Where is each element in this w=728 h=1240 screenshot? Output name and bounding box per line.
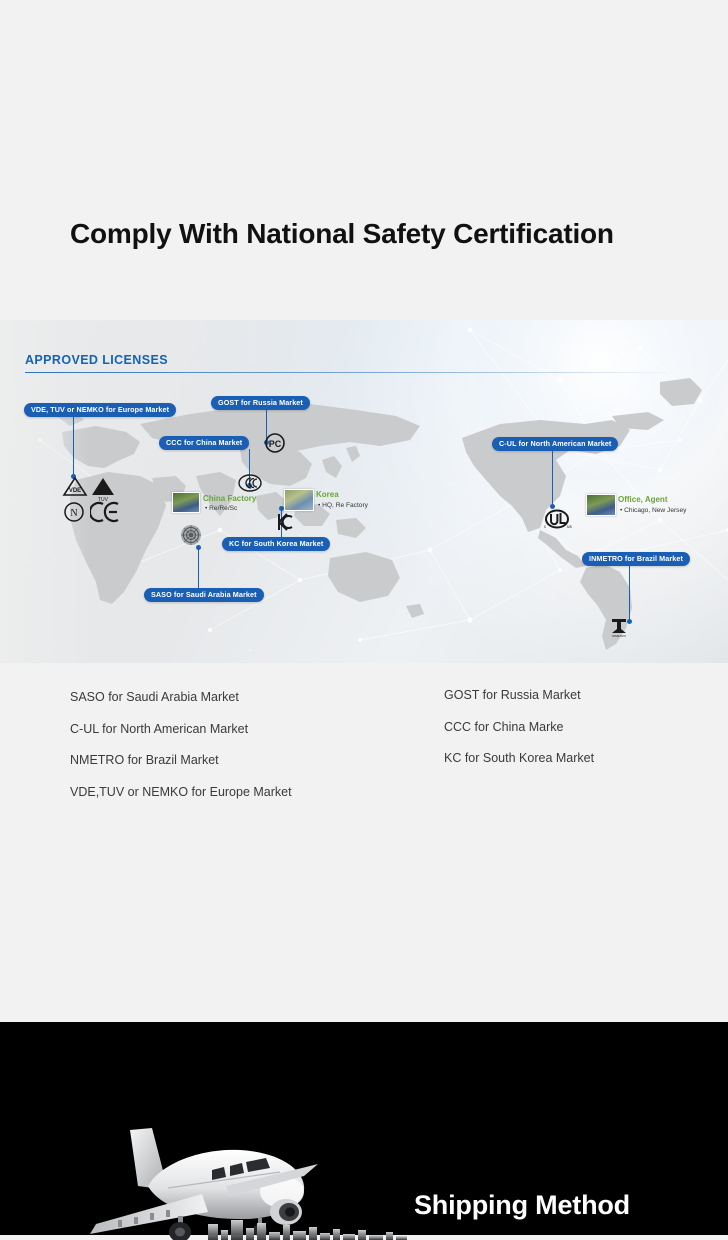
svg-text:us: us (567, 524, 572, 529)
leader-brazil (629, 565, 630, 621)
callout-north-america[interactable]: C-UL for North American Market (492, 437, 618, 451)
heading-section: Comply With National Safety Certificatio… (0, 0, 728, 320)
nemko-logo: N (63, 501, 85, 523)
svg-text:VDE: VDE (69, 488, 81, 494)
ccc-logo (238, 474, 262, 492)
ul-logo: c us (542, 508, 572, 530)
leader-north-america (552, 450, 553, 506)
svg-text:N: N (70, 508, 77, 519)
china-factory-detail: • Re/Re/Sc (205, 506, 237, 513)
gost-pct-logo: PC (264, 432, 286, 454)
korea-site-name: Korea (316, 491, 339, 499)
callout-europe[interactable]: VDE, TUV or NEMKO for Europe Market (24, 403, 176, 417)
list-item: CCC for China Marke (444, 721, 594, 734)
page-title: Comply With National Safety Certificatio… (70, 218, 614, 250)
china-factory-name: China Factory (203, 495, 256, 503)
svg-text:c: c (544, 524, 547, 529)
approved-licenses-divider (25, 372, 680, 373)
callout-brazil[interactable]: INMETRO for Brazil Market (582, 552, 690, 566)
callout-saudi[interactable]: SASO for Saudi Arabia Market (144, 588, 264, 602)
tuv-logo: TUV (90, 476, 116, 502)
korea-site-thumbnail (284, 489, 314, 511)
list-item: SASO for Saudi Arabia Market (70, 691, 292, 704)
inmetro-logo: INMETRO (609, 616, 629, 638)
callout-korea[interactable]: KC for South Korea Market (222, 537, 330, 551)
office-agent-detail: • Chicago, New Jersey (620, 508, 686, 515)
korea-site-detail: • HQ, Re Factory (318, 503, 368, 510)
ce-logo (90, 501, 120, 523)
airplane-icon (90, 1120, 420, 1240)
certification-list-section: SASO for Saudi Arabia Market C-UL for No… (0, 663, 728, 1022)
svg-text:INMETRO: INMETRO (612, 634, 626, 638)
office-agent-name: Office, Agent (618, 496, 667, 504)
approved-licenses-title: APPROVED LICENSES (25, 353, 168, 367)
callout-russia[interactable]: GOST for Russia Market (211, 396, 310, 410)
vde-logo: VDE (62, 476, 88, 498)
china-factory-thumbnail (172, 492, 200, 513)
list-item: VDE,TUV or NEMKO for Europe Market (70, 786, 292, 799)
svg-text:PC: PC (269, 439, 282, 449)
kc-logo (276, 512, 294, 532)
list-item: GOST for Russia Market (444, 689, 594, 702)
list-item: NMETRO for Brazil Market (70, 754, 292, 767)
list-item: C-UL for North American Market (70, 723, 292, 736)
saso-logo (180, 524, 202, 546)
leader-saudi (198, 549, 199, 590)
leader-europe (73, 416, 74, 476)
page-root: Comply With National Safety Certificatio… (0, 0, 728, 1235)
shipping-method-title: Shipping Method (414, 1190, 630, 1221)
list-item: KC for South Korea Market (444, 752, 594, 765)
certification-list-left-column: SASO for Saudi Arabia Market C-UL for No… (70, 691, 292, 817)
certification-list-right-column: GOST for Russia Market CCC for China Mar… (444, 689, 594, 784)
office-agent-thumbnail (586, 494, 616, 516)
callout-china[interactable]: CCC for China Market (159, 436, 249, 450)
